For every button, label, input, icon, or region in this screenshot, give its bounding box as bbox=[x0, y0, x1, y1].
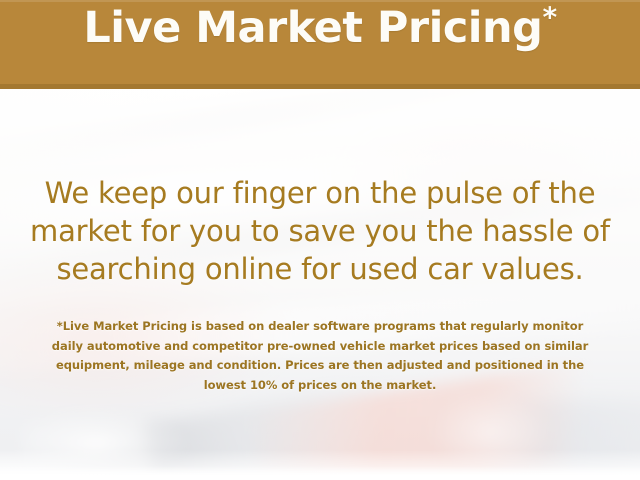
headline-line-2: market for you to save you the hassle of bbox=[0, 212, 640, 250]
background-bottom-fade bbox=[0, 466, 640, 480]
page-title: Live Market Pricing* bbox=[83, 7, 556, 50]
headline-line-3: searching online for used car values. bbox=[0, 250, 640, 288]
page-title-asterisk: * bbox=[542, 0, 556, 33]
header-banner: Live Market Pricing* bbox=[0, 0, 640, 89]
page-title-text: Live Market Pricing bbox=[83, 3, 542, 53]
disclaimer-line-3: equipment, mileage and condition. Prices… bbox=[0, 356, 640, 376]
headline-line-1: We keep our finger on the pulse of the bbox=[0, 174, 640, 212]
disclaimer-line-1: *Live Market Pricing is based on dealer … bbox=[0, 317, 640, 337]
disclaimer-line-2: daily automotive and competitor pre-owne… bbox=[0, 337, 640, 357]
disclaimer-line-4: lowest 10% of prices on the market. bbox=[0, 376, 640, 396]
headline-block: We keep our finger on the pulse of the m… bbox=[0, 174, 640, 288]
disclaimer-block: *Live Market Pricing is based on dealer … bbox=[0, 317, 640, 395]
banner-bottom-edge bbox=[0, 84, 640, 89]
live-market-pricing-slide: Live Market Pricing* We keep our finger … bbox=[0, 0, 640, 480]
